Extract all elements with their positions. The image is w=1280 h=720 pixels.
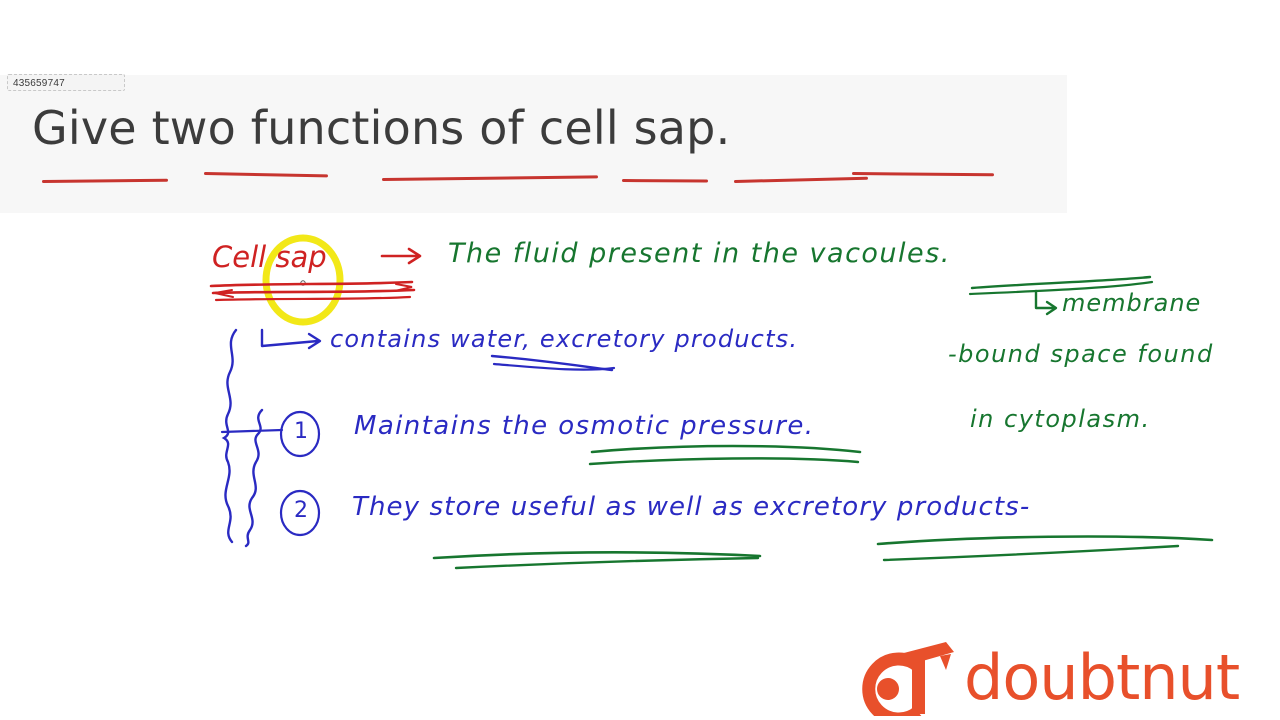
point-2-circle xyxy=(281,491,319,535)
red-strike-3 xyxy=(216,297,410,300)
green-underline-osmotic-2 xyxy=(590,458,858,464)
red-strike-2 xyxy=(213,290,414,293)
green-underline-excretory-2 xyxy=(884,546,1178,560)
green-corner-arrow-icon xyxy=(1036,291,1056,314)
doubtnut-logo: doubtnut xyxy=(842,640,1272,716)
blue-brace-outer xyxy=(224,330,236,542)
blue-corner-arrow-icon xyxy=(262,330,320,348)
green-underline-vacoules-1 xyxy=(972,277,1150,288)
blue-brace-tick xyxy=(222,430,282,432)
page-title: Give two functions of cell sap. xyxy=(32,96,730,160)
side-note-line-3: in cytoplasm. xyxy=(970,405,1151,433)
red-strike-arrowhead-right xyxy=(395,284,412,291)
red-strike-arrowhead-left xyxy=(215,290,233,297)
green-underline-useful-1 xyxy=(434,552,760,558)
point-1-text: Maintains the osmotic pressure. xyxy=(354,411,814,441)
side-note-line-1: membrane xyxy=(1062,289,1201,317)
red-strike-1 xyxy=(211,282,412,286)
point-2-number: 2 xyxy=(294,498,308,523)
blue-brace-inner xyxy=(246,410,262,546)
doubtnut-mark-icon xyxy=(842,640,962,716)
red-arrow-icon xyxy=(382,249,420,263)
cursor-dot xyxy=(301,281,305,285)
screenshot-root: 435659747 Give two functions of cell sap… xyxy=(0,0,1280,720)
doubtnut-wordmark: doubtnut xyxy=(964,644,1239,712)
green-underline-excretory-1 xyxy=(878,537,1212,544)
green-underline-osmotic-1 xyxy=(592,446,860,452)
point-2-text: They store useful as well as excretory p… xyxy=(352,492,1030,522)
question-id-badge: 435659747 xyxy=(7,74,125,91)
answer-contains-line: contains water, excretory products. xyxy=(330,325,798,353)
blue-underline-water-1 xyxy=(492,356,612,370)
yellow-highlight-circle xyxy=(266,238,340,322)
point-1-number: 1 xyxy=(294,419,308,444)
point-1-circle xyxy=(281,412,319,456)
answer-definition-body: The fluid present in the vacoules. xyxy=(448,238,951,269)
question-underline-stroke-4 xyxy=(622,179,708,182)
side-note-line-2: -bound space found xyxy=(948,340,1214,368)
green-underline-useful-2 xyxy=(456,558,758,568)
answer-term-cell-sap: Cell sap xyxy=(212,240,327,274)
blue-underline-water-2 xyxy=(494,364,614,370)
green-underline-vacoules-2 xyxy=(970,282,1152,294)
